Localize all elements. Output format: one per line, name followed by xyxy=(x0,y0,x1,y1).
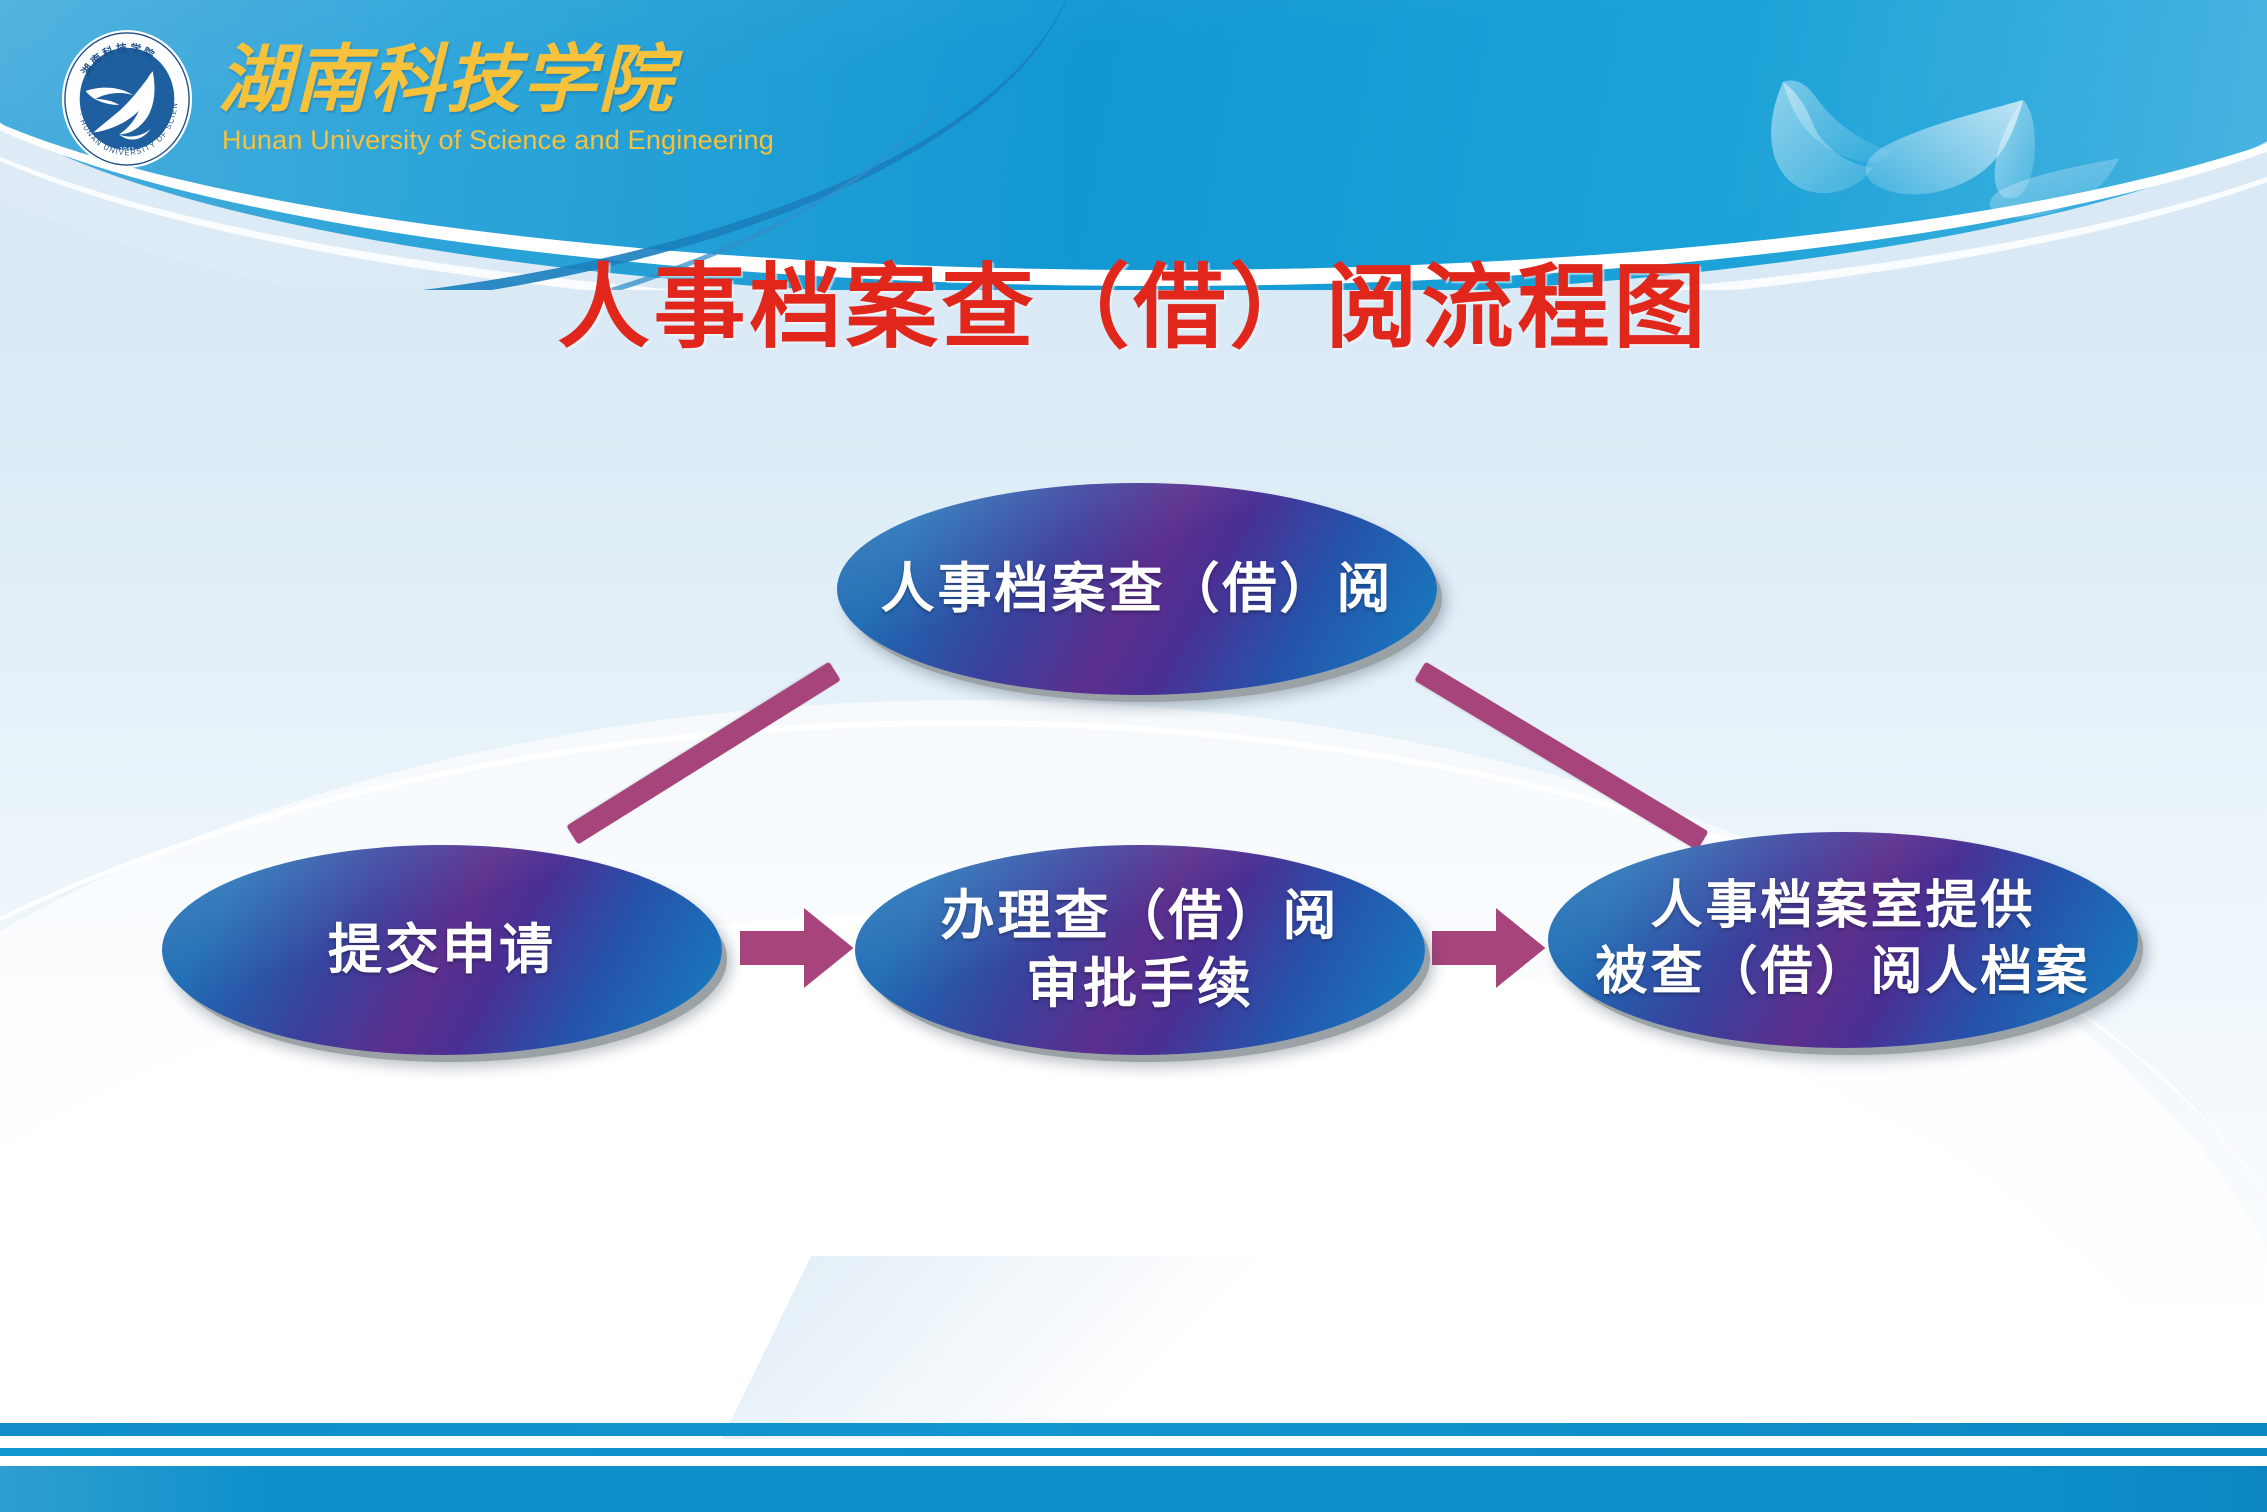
connector-start-to-provide xyxy=(1414,662,1708,851)
flow-node-start-label: 人事档案查（借）阅 xyxy=(855,555,1420,623)
connector-start-to-submit xyxy=(566,662,841,845)
flow-node-submit[interactable]: 提交申请 xyxy=(162,845,722,1055)
footer-bar-gap-1 xyxy=(0,1439,2267,1448)
footer-bar-top xyxy=(0,1423,2267,1436)
arrow-approve-to-provide-icon xyxy=(1428,900,1550,996)
flow-node-start[interactable]: 人事档案查（借）阅 xyxy=(837,483,1437,695)
footer-bar-main xyxy=(0,1466,2267,1512)
arrow-submit-to-approve-icon xyxy=(737,900,857,996)
flow-node-approve-line-2: 审批手续 xyxy=(941,950,1340,1018)
flow-node-approve-line-1: 办理查（借）阅 xyxy=(941,882,1340,950)
flow-node-submit-label: 提交申请 xyxy=(302,916,582,984)
flow-node-provide-line-1: 人事档案室提供 xyxy=(1595,874,2090,940)
flow-node-approve[interactable]: 办理查（借）阅 审批手续 xyxy=(855,845,1425,1055)
flow-node-provide-line-2: 被查（借）阅人档案 xyxy=(1595,940,2090,1006)
slide-canvas: 1941 湖南科技学院 · HUNAN UNIVERSITY OF SCIENC… xyxy=(0,0,2267,1512)
flow-node-provide[interactable]: 人事档案室提供 被查（借）阅人档案 xyxy=(1548,832,2138,1048)
flow-node-approve-label: 办理查（借）阅 审批手续 xyxy=(915,882,1366,1018)
flowchart: 人事档案查（借）阅 提交申请 办理查（借）阅 审批手续 人事档案室提供 被查（借… xyxy=(0,0,2267,1512)
flow-node-provide-label: 人事档案室提供 被查（借）阅人档案 xyxy=(1569,874,2116,1005)
